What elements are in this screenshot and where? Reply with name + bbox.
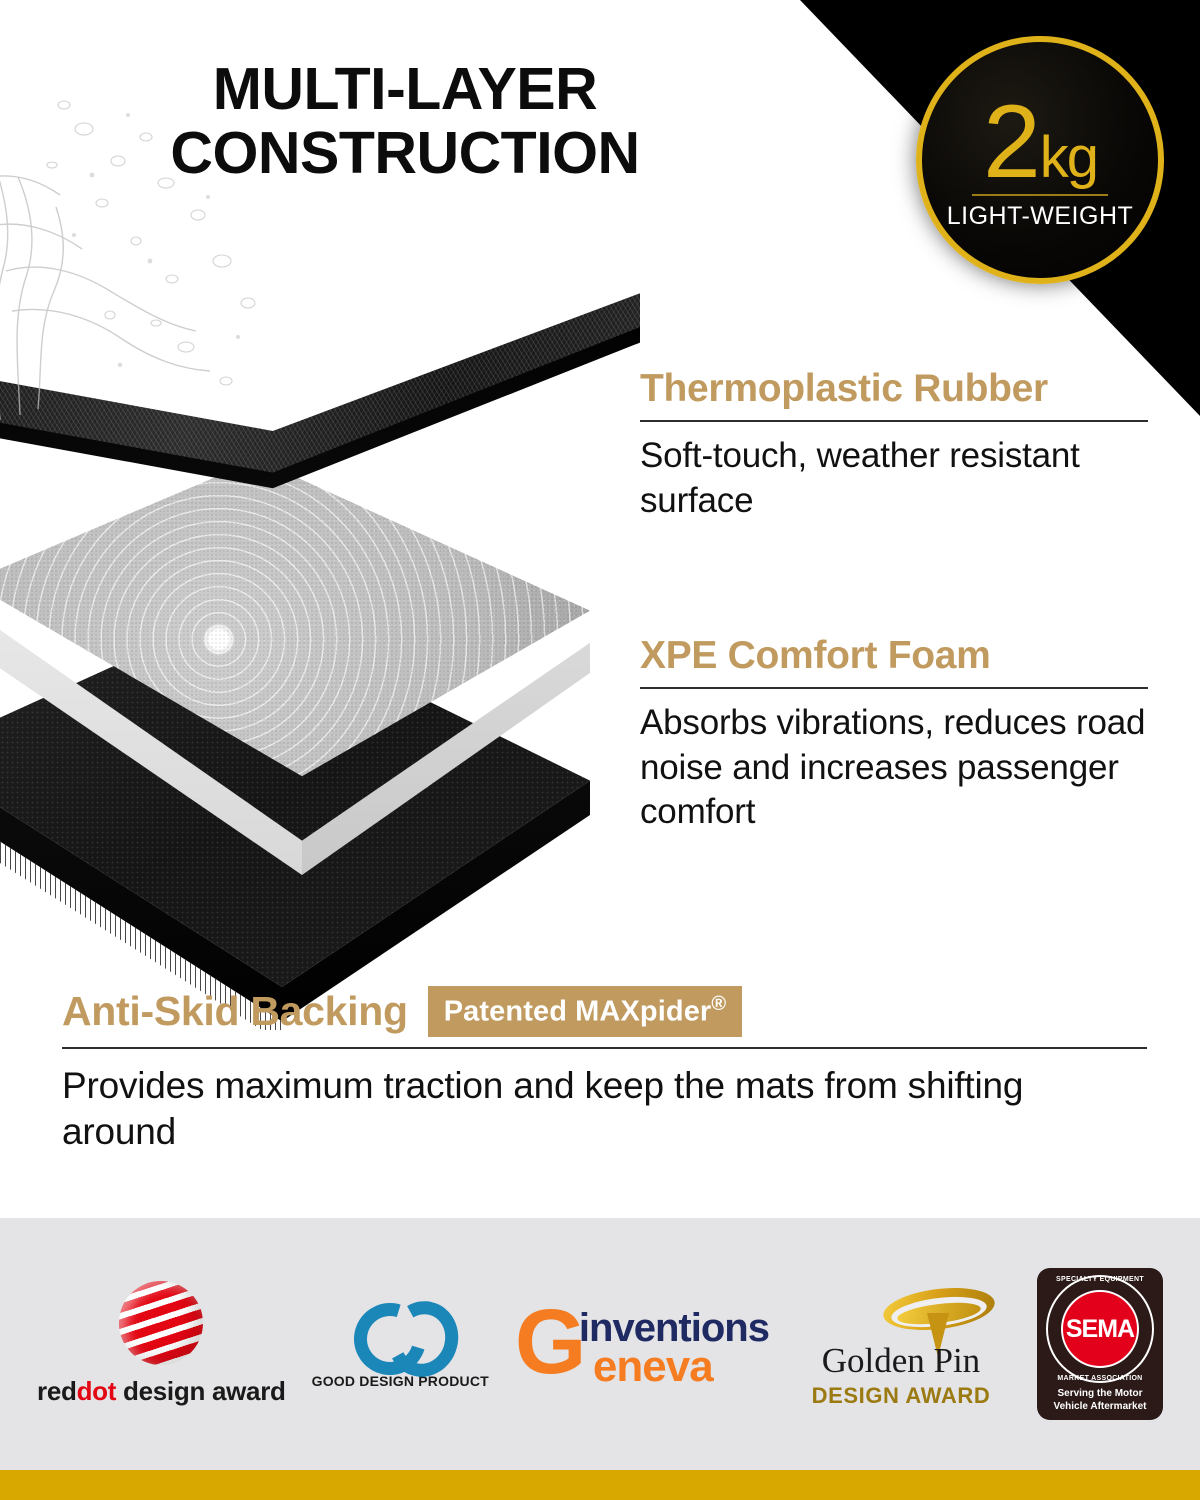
golden-pin-caption: DESIGN AWARD <box>791 1383 1011 1409</box>
reddot-label: reddot design award <box>37 1376 286 1407</box>
badge-divider <box>972 194 1108 196</box>
feature-title: Anti-Skid Backing <box>62 988 408 1035</box>
feature-body: Absorbs vibrations, reduces road noise a… <box>640 701 1148 835</box>
patent-badge-label: Patented MAXpider <box>444 996 712 1028</box>
feature-anti-skid-backing: Anti-Skid Backing Patented MAXpider® Pro… <box>62 986 1147 1156</box>
sema-ring: SPECIALTY EQUIPMENT SEMA MARKET ASSOCIAT… <box>1046 1275 1154 1383</box>
badge-weight-value: 2 kg <box>983 95 1097 191</box>
product-exploded-view <box>0 255 660 955</box>
feature-thermoplastic-rubber: Thermoplastic Rubber Soft-touch, weather… <box>640 368 1148 523</box>
feature-divider <box>640 687 1148 689</box>
award-reddot: reddot design award <box>37 1281 286 1407</box>
patented-maxpider-badge: Patented MAXpider® <box>428 986 742 1037</box>
sema-arc-bottom-text: MARKET ASSOCIATION <box>1048 1375 1152 1382</box>
award-golden-pin: Golden Pin DESIGN AWARD <box>791 1283 1011 1405</box>
page-title: MULTI-LAYER CONSTRUCTION <box>0 58 810 185</box>
sema-footer-line-1: Serving the Motor <box>1053 1388 1146 1401</box>
geneva-initial-g: G <box>515 1300 587 1385</box>
feature-title: XPE Comfort Foam <box>640 635 1148 678</box>
reddot-word-red: red <box>37 1376 77 1406</box>
sema-footer: Serving the Motor Vehicle Aftermarket <box>1053 1388 1146 1413</box>
badge-caption: LIGHT-WEIGHT <box>947 202 1134 231</box>
feature-body: Provides maximum traction and keep the m… <box>62 1063 1147 1156</box>
infographic-canvas: 2 kg LIGHT-WEIGHT MULTI-LAYER CONSTRUCTI… <box>0 0 1200 1500</box>
sema-center-mark: SEMA <box>1061 1290 1139 1368</box>
registered-trademark-icon: ® <box>711 993 726 1015</box>
footer-gold-bar <box>0 1470 1200 1500</box>
title-line-1: MULTI-LAYER <box>213 56 598 122</box>
reddot-word-rest: design award <box>116 1376 285 1406</box>
sema-arc-top-text: SPECIALTY EQUIPMENT <box>1048 1276 1152 1283</box>
feature-body: Soft-touch, weather resistant surface <box>640 434 1148 524</box>
award-sema: SPECIALTY EQUIPMENT SEMA MARKET ASSOCIAT… <box>1037 1268 1163 1420</box>
feature-xpe-comfort-foam: XPE Comfort Foam Absorbs vibrations, red… <box>640 635 1148 835</box>
reddot-word-dot: dot <box>77 1376 117 1406</box>
sema-logo: SPECIALTY EQUIPMENT SEMA MARKET ASSOCIAT… <box>1037 1268 1163 1420</box>
good-design-label: GOOD DESIGN PRODUCT <box>312 1373 489 1389</box>
golden-pin-logo: Golden Pin DESIGN AWARD <box>791 1283 1011 1405</box>
badge-unit: kg <box>1040 131 1097 184</box>
award-inventions-geneva: G inventions eneva <box>515 1294 765 1394</box>
inventions-geneva-logo: G inventions eneva <box>515 1294 765 1394</box>
feature-title: Thermoplastic Rubber <box>640 368 1148 411</box>
geneva-word: eneva <box>593 1342 713 1392</box>
feature-heading-row: Anti-Skid Backing Patented MAXpider® <box>62 986 1147 1037</box>
badge-number: 2 <box>983 95 1039 191</box>
award-good-design: GOOD DESIGN PRODUCT <box>312 1299 489 1389</box>
golden-pin-label: Golden Pin <box>791 1341 1011 1381</box>
sema-footer-line-2: Vehicle Aftermarket <box>1053 1401 1146 1414</box>
reddot-sphere-icon <box>119 1281 203 1365</box>
feature-divider <box>62 1047 1147 1049</box>
feature-divider <box>640 420 1148 422</box>
awards-strip: reddot design award GOOD DESIGN PRODUCT … <box>0 1218 1200 1470</box>
light-weight-badge: 2 kg LIGHT-WEIGHT <box>916 36 1164 284</box>
good-design-monogram-icon <box>352 1299 448 1361</box>
title-line-2: CONSTRUCTION <box>0 122 810 186</box>
